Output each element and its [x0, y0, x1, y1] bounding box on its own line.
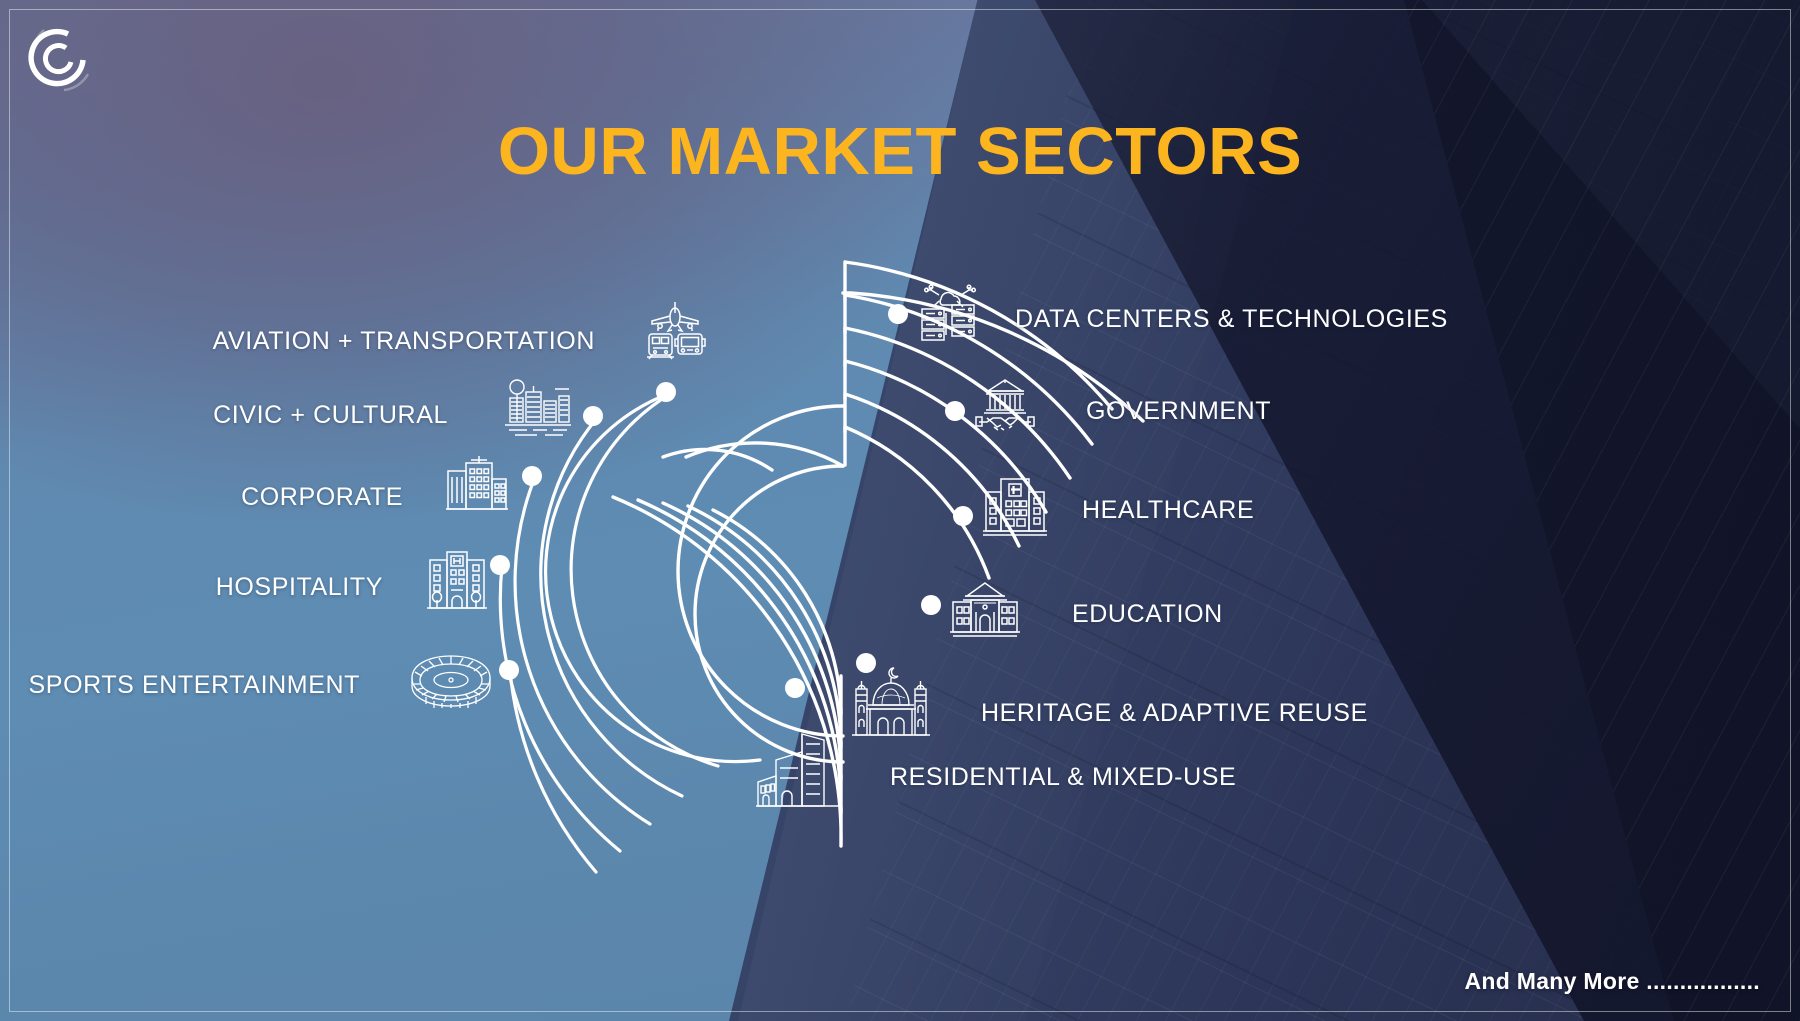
office-buildings-icon	[444, 453, 510, 515]
dot-data-centers	[888, 304, 908, 324]
arc-left-civic	[686, 443, 843, 466]
stadium-icon	[406, 650, 496, 708]
dot-education	[921, 595, 941, 615]
sector-label-corporate[interactable]: CORPORATE	[241, 483, 403, 512]
sector-label-education[interactable]: EDUCATION	[1072, 600, 1223, 629]
connector-dots	[490, 304, 973, 698]
sector-label-residential[interactable]: RESIDENTIAL & MIXED-USE	[890, 763, 1236, 792]
slide-root: OUR MARKET SECTORS	[0, 0, 1800, 1021]
capitol-handshake-icon	[974, 378, 1036, 434]
sector-label-hospitality[interactable]: HOSPITALITY	[216, 573, 383, 602]
dot-residential	[785, 678, 805, 698]
leader-left-5	[510, 671, 596, 872]
dot-healthcare	[953, 506, 973, 526]
server-cloud-icon	[917, 283, 979, 345]
residential-mixeduse-icon	[754, 724, 840, 810]
dot-hospitality	[490, 555, 510, 575]
university-icon	[949, 580, 1021, 642]
sector-label-aviation[interactable]: AVIATION + TRANSPORTATION	[213, 327, 595, 356]
hospital-icon	[981, 473, 1049, 539]
dot-corporate	[522, 466, 542, 486]
sector-label-data-centers[interactable]: DATA CENTERS & TECHNOLOGIES	[1015, 305, 1448, 334]
dot-government	[945, 401, 965, 421]
arc-t6	[845, 427, 989, 578]
sector-label-government[interactable]: GOVERNMENT	[1086, 397, 1271, 426]
dot-aviation	[656, 382, 676, 402]
plane-train-bus-icon	[638, 292, 712, 366]
heritage-mosque-icon	[848, 665, 934, 739]
lead-civic	[663, 449, 772, 470]
sector-label-heritage[interactable]: HERITAGE & ADAPTIVE REUSE	[981, 699, 1368, 728]
hotel-icon	[425, 547, 489, 613]
sector-label-sports[interactable]: SPORTS ENTERTAINMENT	[29, 671, 360, 700]
dot-sports	[499, 660, 519, 680]
sector-label-healthcare[interactable]: HEALTHCARE	[1082, 496, 1254, 525]
footer-note: And Many More .................	[1464, 968, 1760, 995]
city-skyline-icon	[503, 375, 573, 441]
dot-civic	[583, 406, 603, 426]
sector-label-civic[interactable]: CIVIC + CULTURAL	[213, 401, 448, 430]
